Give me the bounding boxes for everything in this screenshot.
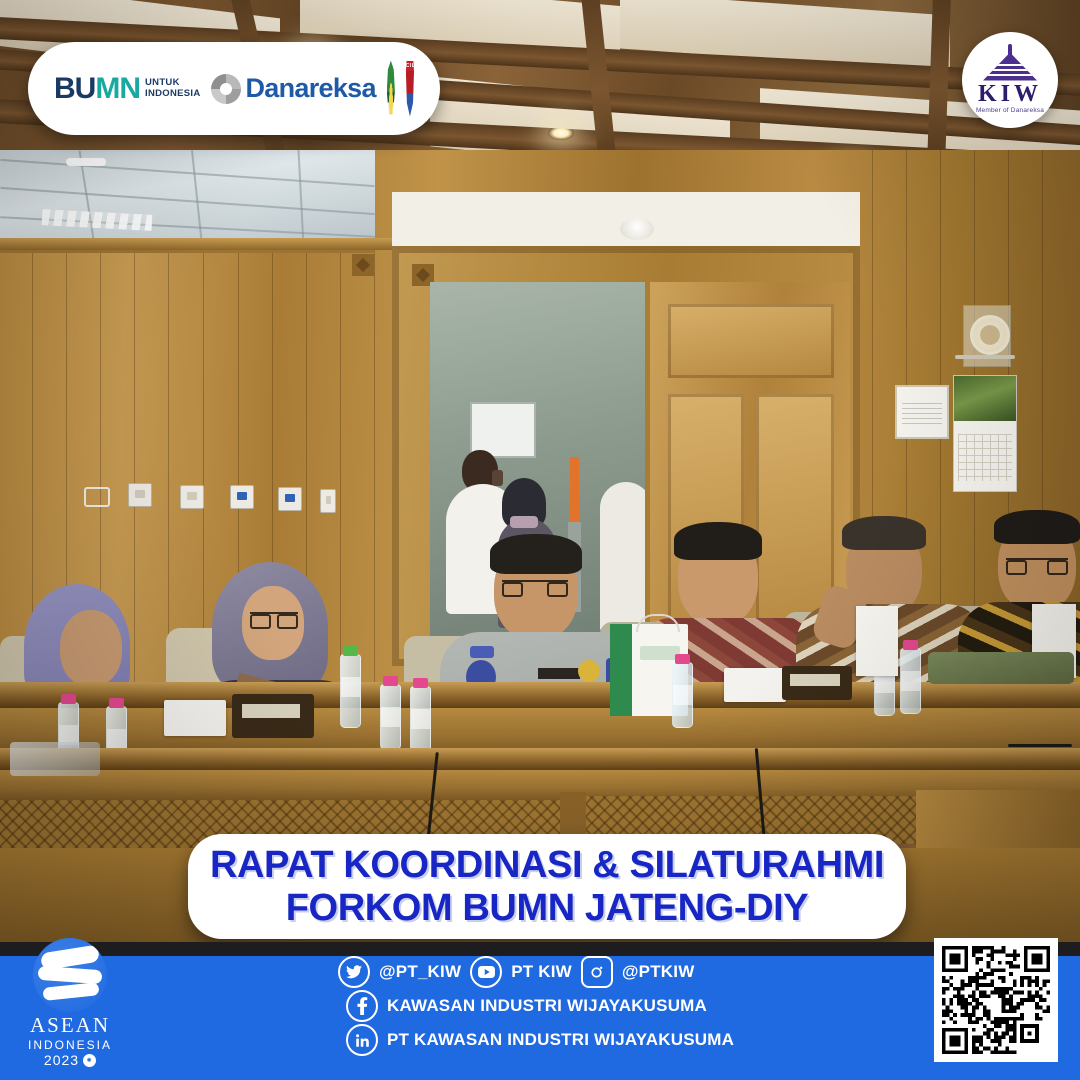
kiw-mark-icon [983, 47, 1037, 81]
panel-ornament [352, 254, 374, 276]
meeting-room-photograph [0, 0, 1080, 960]
bumn-logo: BUMN UNTUK INDONESIA [54, 74, 200, 104]
water-bottle [410, 686, 431, 752]
social-facebook[interactable]: KAWASAN INDUSTRI WIJAYAKUSUMA [338, 989, 898, 1023]
instagram-handle: @PTKIW [622, 962, 695, 982]
youtube-handle: PT KIW [511, 962, 572, 982]
wall-switch[interactable] [230, 485, 254, 509]
social-instagram[interactable]: @PTKIW [581, 956, 695, 988]
danareksa-logo: Danareksa [211, 73, 375, 104]
event-title-line1: RAPAT KOORDINASI & SILATURAHMI [210, 844, 884, 887]
asean-seal-icon: ✺ [83, 1054, 96, 1067]
linkedin-handle: PT KAWASAN INDUSTRI WIJAYAKUSUMA [387, 1030, 734, 1050]
event-title-banner: RAPAT KOORDINASI & SILATURAHMI FORKOM BU… [188, 834, 906, 939]
partner-logo-bar: BUMN UNTUK INDONESIA Danareksa [28, 42, 440, 135]
table-microphone [782, 666, 852, 700]
qr-code[interactable] [934, 938, 1058, 1062]
green-pouch [928, 652, 1074, 684]
asean-indonesia-2023-logo: ASEAN INDONESIA 2023 ✺ [10, 938, 130, 1076]
water-bottle [340, 654, 361, 728]
youtube-icon [470, 956, 502, 988]
wall-socket [84, 487, 106, 509]
bumn-logo-secondary: MN [95, 72, 140, 105]
event-title-line2: FORKOM BUMN JATENG-DIY [286, 887, 808, 930]
facebook-handle: KAWASAN INDUSTRI WIJAYAKUSUMA [387, 996, 707, 1016]
asean-year: 2023 [44, 1052, 79, 1068]
eyeglasses [502, 580, 568, 592]
asean-label: ASEAN [30, 1013, 110, 1038]
asean-country: INDONESIA [28, 1038, 112, 1052]
danareksa-swirl-icon [211, 74, 241, 104]
tissue-box [164, 700, 226, 736]
wall-notice-small [895, 385, 949, 439]
twitter-handle: @PT_KIW [379, 962, 461, 982]
asean-globe-icon [33, 938, 107, 1012]
wall-switch[interactable] [180, 485, 204, 509]
danareksa-wordmark: Danareksa [245, 73, 375, 104]
social-youtube[interactable]: PT KIW [470, 956, 572, 988]
eyeglasses [250, 612, 298, 624]
smoke-detector-icon [620, 218, 654, 240]
water-bottle [900, 648, 921, 714]
facebook-icon [346, 990, 378, 1022]
kiw-logo: KIW Member of Danareksa [962, 32, 1058, 128]
wall-switch[interactable] [128, 483, 152, 507]
bumn-tagline-line2: INDONESIA [145, 88, 200, 99]
social-links: @PT_KIW PT KIW @PTKIW KAWASAN INDUSTRI W… [338, 955, 898, 1057]
cilacap-emblem [406, 61, 414, 117]
wall-calendar [953, 375, 1017, 492]
social-twitter[interactable]: @PT_KIW [338, 956, 461, 988]
ceiling-downlight [548, 126, 574, 140]
document-folder [856, 606, 898, 676]
wall-switch[interactable] [278, 487, 302, 511]
twitter-icon [338, 956, 370, 988]
kiw-wordmark: KIW [978, 82, 1042, 106]
linkedin-icon [346, 1024, 378, 1056]
table-microphone [232, 694, 314, 738]
wall-switch[interactable] [320, 489, 336, 513]
poster-root: BUMN UNTUK INDONESIA Danareksa KIW Membe… [0, 0, 1080, 1080]
water-bottle [380, 684, 401, 750]
bumn-logo-primary: BU [54, 72, 95, 105]
jawa-tengah-emblem [387, 61, 395, 117]
water-bottle [672, 662, 693, 728]
eyeglasses [1006, 558, 1068, 570]
kiw-subtitle: Member of Danareksa [976, 107, 1044, 114]
tissue-box [724, 668, 786, 702]
social-linkedin[interactable]: PT KAWASAN INDUSTRI WIJAYAKUSUMA [338, 1023, 898, 1057]
instagram-icon [581, 956, 613, 988]
